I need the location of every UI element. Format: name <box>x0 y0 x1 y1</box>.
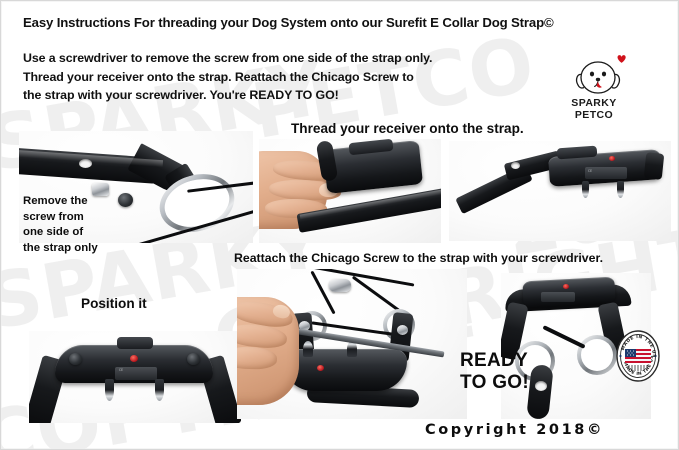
chicago-screw-post <box>187 353 200 365</box>
made-in-usa-badge: MADE IN THE USA MADE IN THE USA <box>614 328 662 384</box>
logo-line-2: PETCO <box>557 110 631 122</box>
contact-prong <box>105 379 114 401</box>
caption-line: screw from <box>23 210 127 226</box>
usa-flag-icon <box>625 349 651 363</box>
strap-screw-hole <box>79 159 92 168</box>
contact-prong <box>303 341 313 357</box>
indicator-led <box>130 355 138 362</box>
caption-reattach-screw: Reattach the Chicago Screw to the strap … <box>234 251 603 265</box>
contact-prong <box>582 181 589 198</box>
receiver-label-text: CE <box>119 368 123 372</box>
caption-ready-to-go: READY TO GO! <box>460 350 529 394</box>
caption-line: one side of <box>23 225 127 241</box>
caption-line: the strap only <box>23 241 127 257</box>
indicator-led <box>609 156 615 161</box>
heart-icon <box>618 55 626 63</box>
page-title: Easy Instructions For threading your Dog… <box>23 15 659 30</box>
strap-screw-hole <box>511 162 520 169</box>
strap-end <box>644 152 665 180</box>
caption-thread-receiver: Thread your receiver onto the strap. <box>291 121 524 136</box>
hand-screwdriver-photo <box>237 269 467 419</box>
caption-position-it: Position it <box>81 296 147 311</box>
dog-face-icon <box>577 62 620 93</box>
receiver-label-text: CE <box>588 169 592 173</box>
caption-line: TO GO! <box>460 372 529 394</box>
indicator-led <box>563 284 569 289</box>
hand-threading-photo <box>259 139 441 243</box>
sparky-petco-logo: SPARKY PETCO <box>557 53 631 121</box>
o-ring <box>577 335 617 375</box>
receiver-module <box>283 349 407 391</box>
logo-line-1: SPARKY <box>557 98 631 110</box>
contact-prong <box>155 379 164 401</box>
chicago-screw-head <box>397 325 408 335</box>
copyright-notice: Copyright 2018© <box>425 422 604 438</box>
chicago-screw-head <box>329 279 351 292</box>
receiver-label-plate <box>541 292 575 302</box>
contact-prong <box>617 181 624 198</box>
receiver-positioned-photo: CE <box>29 331 241 423</box>
instruction-paragraph: Use a screwdriver to remove the screw fr… <box>23 49 493 105</box>
strap-screw-hole <box>535 381 547 391</box>
chicago-screw-post <box>69 353 82 365</box>
receiver-lid <box>117 337 153 349</box>
instruction-line: the strap with your screwdriver. You're … <box>23 86 493 105</box>
receiver-on-strap-photo: CE <box>449 141 671 241</box>
caption-line: Remove the <box>23 194 127 210</box>
indicator-led <box>317 365 324 371</box>
instruction-sheet: SPARKY PETCO SPARKY COPYRIGHT 20 COPYRIG… <box>0 0 679 450</box>
caption-remove-screw: Remove the screw from one side of the st… <box>23 194 127 256</box>
instruction-line: Use a screwdriver to remove the screw fr… <box>23 49 493 68</box>
caption-line: READY <box>460 350 529 372</box>
instruction-line: Thread your receiver onto the strap. Rea… <box>23 68 493 87</box>
